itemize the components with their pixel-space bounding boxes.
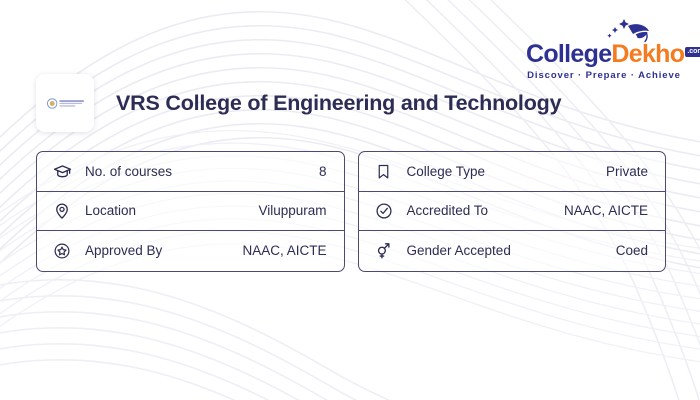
info-table-right: College Type Private Accredited To NAAC,… xyxy=(358,151,667,272)
info-label: Accredited To xyxy=(407,203,489,218)
brand-wordmark: CollegeDekho.com xyxy=(526,42,682,67)
info-label: No. of courses xyxy=(85,164,172,179)
info-row-college-type[interactable]: College Type Private xyxy=(359,152,666,192)
award-star-icon xyxy=(51,240,73,262)
brand-tld: .com xyxy=(685,47,700,57)
graduation-cap-icon xyxy=(526,18,682,44)
info-row-approved-by[interactable]: Approved By NAAC, AICTE xyxy=(37,231,344,271)
brand-name-part1: College xyxy=(526,40,611,68)
info-value: NAAC, AICTE xyxy=(242,243,326,258)
info-value: 8 xyxy=(319,164,327,179)
info-label: College Type xyxy=(407,164,486,179)
info-value: Private xyxy=(606,164,648,179)
college-logo-thumbnail[interactable] xyxy=(36,74,94,132)
bookmark-icon xyxy=(373,160,395,182)
info-row-location[interactable]: Location Viluppuram xyxy=(37,192,344,232)
info-label: Gender Accepted xyxy=(407,243,511,258)
crest-seal-icon xyxy=(47,98,57,108)
collegedekho-logo[interactable]: CollegeDekho.com Discover · Prepare · Ac… xyxy=(526,18,682,81)
info-value: NAAC, AICTE xyxy=(564,203,648,218)
location-pin-icon xyxy=(51,200,73,222)
college-info-tables: No. of courses 8 Location Viluppuram App… xyxy=(36,151,666,272)
brand-name-part2: Dekho xyxy=(611,40,684,68)
info-row-courses[interactable]: No. of courses 8 xyxy=(37,152,344,192)
info-value: Viluppuram xyxy=(258,203,326,218)
info-table-left: No. of courses 8 Location Viluppuram App… xyxy=(36,151,345,272)
info-row-accredited-to[interactable]: Accredited To NAAC, AICTE xyxy=(359,192,666,232)
college-crest-icon xyxy=(47,98,84,108)
graduation-cap-icon xyxy=(51,160,73,182)
info-label: Approved By xyxy=(85,243,162,258)
check-circle-icon xyxy=(373,200,395,222)
info-value: Coed xyxy=(616,243,648,258)
page-title: VRS College of Engineering and Technolog… xyxy=(116,91,561,116)
page-header: VRS College of Engineering and Technolog… xyxy=(36,74,561,132)
info-label: Location xyxy=(85,203,136,218)
info-row-gender-accepted[interactable]: Gender Accepted Coed xyxy=(359,231,666,271)
gender-icon xyxy=(373,240,395,262)
